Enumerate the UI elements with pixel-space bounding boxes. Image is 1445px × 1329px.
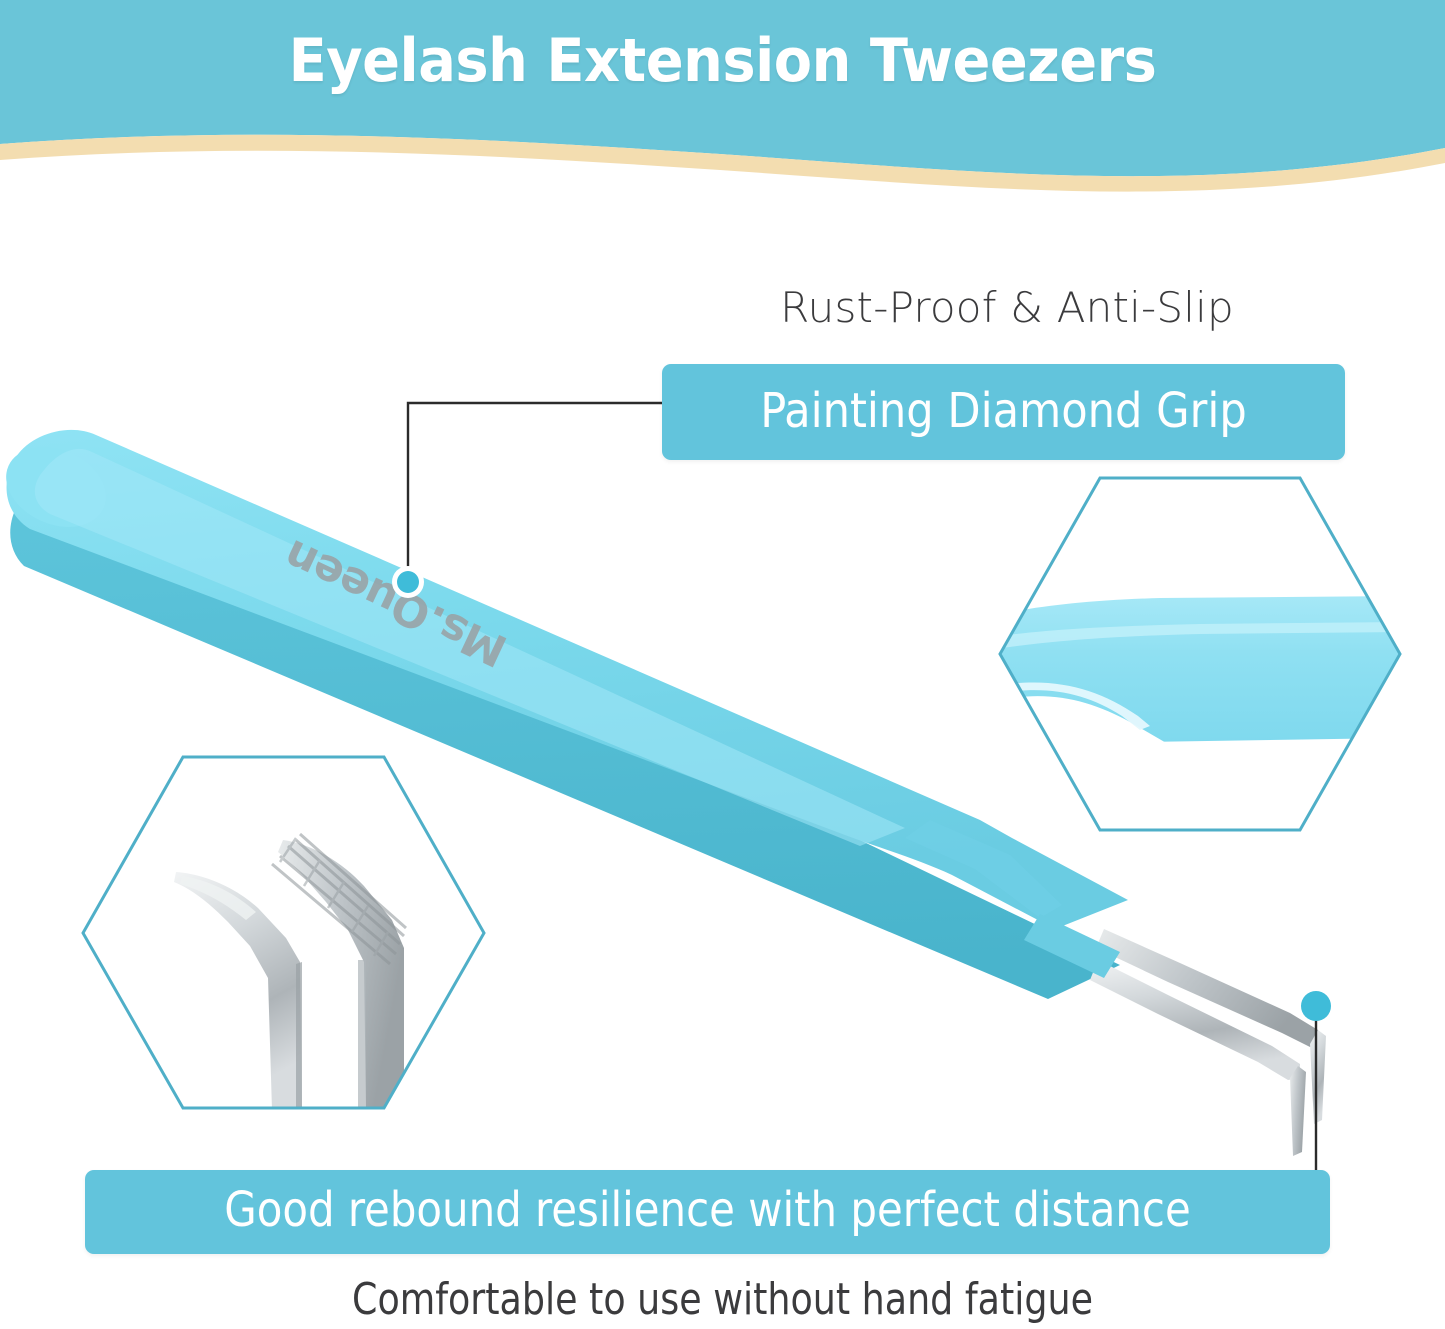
tweezer-handle-end bbox=[0, 432, 119, 542]
footer-caption: Comfortable to use without hand fatigue bbox=[58, 1274, 1387, 1325]
rebound-callout-banner[interactable]: Good rebound resilience with perfect dis… bbox=[85, 1170, 1330, 1254]
tweezer-collar bbox=[1024, 914, 1120, 978]
tweezer-metal-tips bbox=[1024, 914, 1326, 1156]
grip-callout-leader bbox=[392, 403, 662, 598]
product-infographic: Eyelash Extension Tweezers bbox=[0, 0, 1445, 1329]
tweezer-body: Ms.Queen bbox=[0, 430, 1128, 999]
grip-callout-box[interactable]: Painting Diamond Grip bbox=[662, 364, 1345, 460]
tip-callout-leader bbox=[1301, 991, 1331, 1170]
tips-detail-left-prong bbox=[174, 872, 302, 1110]
grip-callout-dot bbox=[397, 571, 419, 593]
grip-detail-band bbox=[1000, 596, 1400, 742]
grip-detail-hexagon-outline bbox=[1000, 478, 1400, 830]
tweezer-upper-jaw bbox=[1096, 929, 1322, 1047]
subheadline-rust-proof: Rust-Proof & Anti-Slip bbox=[612, 283, 1402, 332]
brand-imprint-text: Ms.Queen bbox=[277, 529, 515, 676]
grip-detail-edge-gloss bbox=[1006, 682, 1150, 730]
tips-detail-hexagon bbox=[83, 757, 484, 1110]
page-title: Eyelash Extension Tweezers bbox=[51, 28, 1395, 94]
tips-detail-diamond-texture bbox=[272, 834, 406, 964]
grip-callout-dot-ring bbox=[392, 566, 424, 598]
tweezer-neck-step bbox=[905, 820, 1062, 918]
tip-callout-dot bbox=[1301, 991, 1331, 1021]
rebound-callout-label: Good rebound resilience with perfect dis… bbox=[104, 1182, 1312, 1238]
tips-detail-left-gloss bbox=[180, 876, 256, 920]
tips-detail-right-prong bbox=[278, 840, 404, 1110]
brand-imprint: Ms.Queen bbox=[277, 529, 515, 676]
tweezer-body-underside bbox=[10, 464, 1120, 999]
grip-leader-line bbox=[408, 403, 662, 578]
tweezer-handle-face bbox=[7, 430, 1128, 929]
tips-detail-shank-edge-2 bbox=[358, 960, 366, 1110]
tips-detail-shank-edge bbox=[296, 962, 302, 1110]
tweezer-lower-jaw bbox=[1090, 960, 1300, 1080]
grip-detail-lower-white bbox=[1000, 696, 1168, 748]
tweezer-upper-jaw-point bbox=[1310, 1030, 1326, 1124]
tips-detail-hexagon-outline bbox=[83, 757, 484, 1108]
grip-detail-highlight bbox=[1000, 622, 1400, 648]
tweezer-lower-jaw-point bbox=[1290, 1066, 1306, 1156]
tweezer-gloss-highlight bbox=[35, 449, 905, 846]
grip-detail-hexagon bbox=[1000, 478, 1400, 830]
grip-callout-label: Painting Diamond Grip bbox=[662, 383, 1345, 439]
